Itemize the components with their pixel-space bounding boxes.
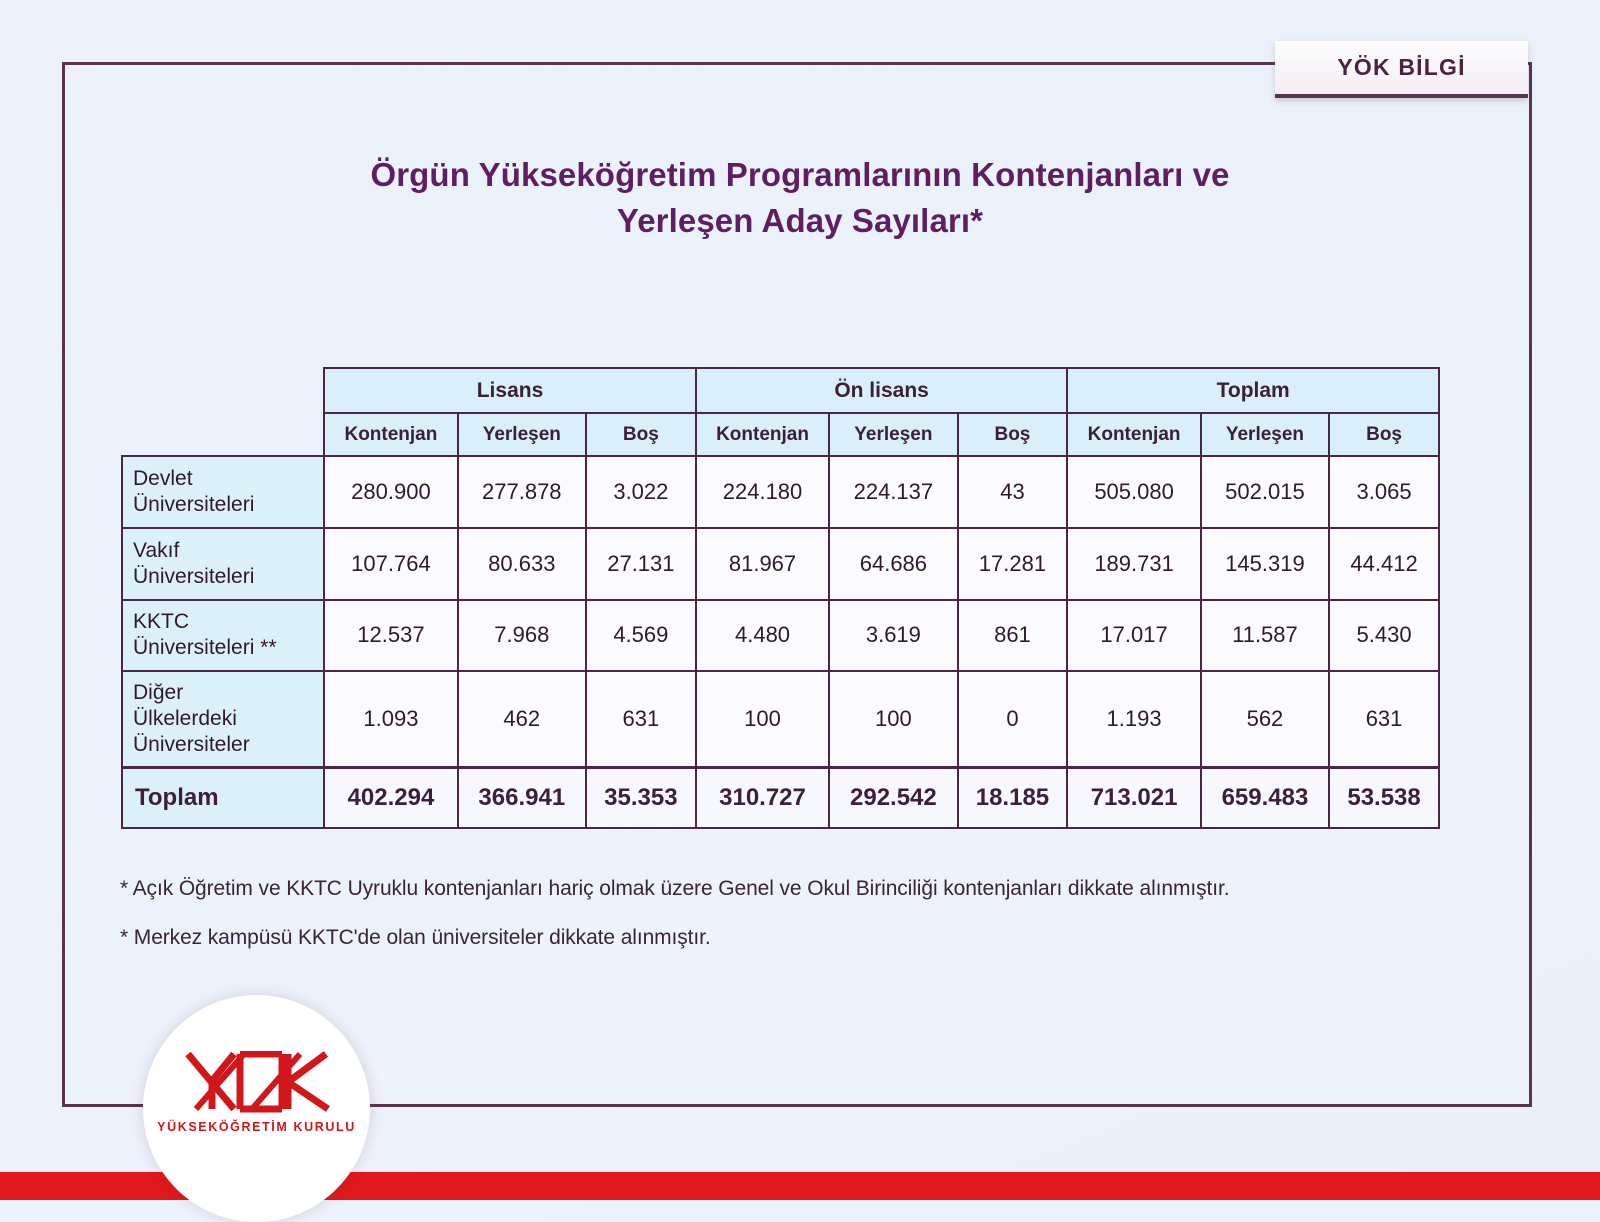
statistics-table-container: Lisans Ön lisans Toplam Kontenjan Yerleş… [121, 367, 1440, 829]
footnote-2: * Merkez kampüsü KKTC'de olan üniversite… [120, 924, 1480, 951]
sub-header-onlisans-kontenjan: Kontenjan [696, 413, 829, 456]
cell-toplam-onlisans-bos: 18.185 [958, 768, 1068, 828]
row-label-line: Ülkelerdeki [133, 706, 313, 732]
sub-header-onlisans-yerlesen: Yerleşen [829, 413, 957, 456]
cell-kktc-lisans-bos: 4.569 [586, 600, 696, 671]
row-label-line: Diğer [133, 680, 313, 706]
cell-toplam-lisans-yerlesen: 366.941 [458, 768, 586, 828]
cell-devlet-onlisans-kontenjan: 224.180 [696, 456, 829, 528]
cell-diger-onlisans-bos: 0 [958, 671, 1068, 768]
cell-diger-lisans-yerlesen: 462 [458, 671, 586, 768]
cell-vakif-lisans-bos: 27.131 [586, 528, 696, 600]
row-label-diger: Diğer Ülkelerdeki Üniversiteler [122, 671, 324, 768]
statistics-table: Lisans Ön lisans Toplam Kontenjan Yerleş… [121, 367, 1440, 829]
table-sub-header-row: Kontenjan Yerleşen Boş Kontenjan Yerleşe… [122, 413, 1439, 456]
cell-diger-toplam-bos: 631 [1329, 671, 1439, 768]
table-row: KKTC Üniversiteleri ** 12.537 7.968 4.56… [122, 600, 1439, 671]
cell-toplam-onlisans-kontenjan: 310.727 [696, 768, 829, 828]
cell-devlet-toplam-yerlesen: 502.015 [1201, 456, 1329, 528]
cell-kktc-toplam-kontenjan: 17.017 [1067, 600, 1200, 671]
sub-header-toplam-kontenjan: Kontenjan [1067, 413, 1200, 456]
yok-bilgi-badge: YÖK BİLGİ [1275, 41, 1528, 98]
sub-header-toplam-bos: Boş [1329, 413, 1439, 456]
row-label-line: Üniversiteler [133, 732, 313, 758]
row-label-line: Vakıf [133, 538, 313, 564]
yok-logo-text: YÜKSEKÖĞRETİM KURULU [157, 1120, 356, 1134]
cell-vakif-toplam-kontenjan: 189.731 [1067, 528, 1200, 600]
table-corner-blank-2 [122, 413, 324, 456]
cell-toplam-lisans-kontenjan: 402.294 [324, 768, 457, 828]
cell-kktc-toplam-bos: 5.430 [1329, 600, 1439, 671]
footnotes: * Açık Öğretim ve KKTC Uyruklu kontenjan… [120, 875, 1480, 974]
cell-kktc-onlisans-kontenjan: 4.480 [696, 600, 829, 671]
cell-devlet-lisans-bos: 3.022 [586, 456, 696, 528]
row-label-line: KKTC [133, 609, 313, 635]
cell-vakif-onlisans-kontenjan: 81.967 [696, 528, 829, 600]
cell-devlet-toplam-kontenjan: 505.080 [1067, 456, 1200, 528]
group-header-lisans: Lisans [324, 368, 696, 413]
cell-vakif-onlisans-yerlesen: 64.686 [829, 528, 957, 600]
cell-devlet-lisans-kontenjan: 280.900 [324, 456, 457, 528]
cell-vakif-toplam-yerlesen: 145.319 [1201, 528, 1329, 600]
page-title: Örgün Yükseköğretim Programlarının Konte… [0, 152, 1600, 243]
table-head: Lisans Ön lisans Toplam Kontenjan Yerleş… [122, 368, 1439, 456]
sub-header-toplam-yerlesen: Yerleşen [1201, 413, 1329, 456]
cell-vakif-lisans-yerlesen: 80.633 [458, 528, 586, 600]
row-label-devlet: Devlet Üniversiteleri [122, 456, 324, 528]
cell-vakif-lisans-kontenjan: 107.764 [324, 528, 457, 600]
sub-header-lisans-bos: Boş [586, 413, 696, 456]
table-row: Vakıf Üniversiteleri 107.764 80.633 27.1… [122, 528, 1439, 600]
row-label-toplam: Toplam [122, 768, 324, 828]
table-row: Devlet Üniversiteleri 280.900 277.878 3.… [122, 456, 1439, 528]
cell-kktc-lisans-yerlesen: 7.968 [458, 600, 586, 671]
cell-toplam-onlisans-yerlesen: 292.542 [829, 768, 957, 828]
cell-toplam-lisans-bos: 35.353 [586, 768, 696, 828]
sub-header-lisans-kontenjan: Kontenjan [324, 413, 457, 456]
table-total-row: Toplam 402.294 366.941 35.353 310.727 29… [122, 768, 1439, 828]
page-title-line-2: Yerleşen Aday Sayıları* [0, 198, 1600, 244]
row-label-vakif: Vakıf Üniversiteleri [122, 528, 324, 600]
sub-header-lisans-yerlesen: Yerleşen [458, 413, 586, 456]
cell-vakif-onlisans-bos: 17.281 [958, 528, 1068, 600]
cell-devlet-onlisans-bos: 43 [958, 456, 1068, 528]
group-header-toplam: Toplam [1067, 368, 1439, 413]
table-body: Devlet Üniversiteleri 280.900 277.878 3.… [122, 456, 1439, 828]
cell-kktc-lisans-kontenjan: 12.537 [324, 600, 457, 671]
cell-kktc-toplam-yerlesen: 11.587 [1201, 600, 1329, 671]
cell-diger-lisans-kontenjan: 1.093 [324, 671, 457, 768]
table-row: Diğer Ülkelerdeki Üniversiteler 1.093 46… [122, 671, 1439, 768]
cell-toplam-toplam-yerlesen: 659.483 [1201, 768, 1329, 828]
cell-diger-toplam-yerlesen: 562 [1201, 671, 1329, 768]
sub-header-onlisans-bos: Boş [958, 413, 1068, 456]
cell-devlet-onlisans-yerlesen: 224.137 [829, 456, 957, 528]
cell-diger-lisans-bos: 631 [586, 671, 696, 768]
row-label-line: Üniversiteleri [133, 492, 313, 518]
row-label-line: Devlet [133, 466, 313, 492]
table-group-header-row: Lisans Ön lisans Toplam [122, 368, 1439, 413]
footnote-1: * Açık Öğretim ve KKTC Uyruklu kontenjan… [120, 875, 1480, 902]
cell-diger-toplam-kontenjan: 1.193 [1067, 671, 1200, 768]
yok-logo: YÜKSEKÖĞRETİM KURULU [143, 995, 370, 1222]
row-label-line: Üniversiteleri [133, 564, 313, 590]
page-title-line-1: Örgün Yükseköğretim Programlarının Konte… [0, 152, 1600, 198]
cell-toplam-toplam-kontenjan: 713.021 [1067, 768, 1200, 828]
yok-logo-icon [182, 1051, 332, 1113]
group-header-onlisans: Ön lisans [696, 368, 1068, 413]
row-label-line: Üniversiteleri ** [133, 635, 313, 661]
cell-diger-onlisans-kontenjan: 100 [696, 671, 829, 768]
cell-devlet-toplam-bos: 3.065 [1329, 456, 1439, 528]
yok-bilgi-badge-label: YÖK BİLGİ [1337, 54, 1465, 81]
table-corner-blank [122, 368, 324, 413]
cell-toplam-toplam-bos: 53.538 [1329, 768, 1439, 828]
cell-diger-onlisans-yerlesen: 100 [829, 671, 957, 768]
row-label-kktc: KKTC Üniversiteleri ** [122, 600, 324, 671]
cell-kktc-onlisans-yerlesen: 3.619 [829, 600, 957, 671]
cell-kktc-onlisans-bos: 861 [958, 600, 1068, 671]
cell-vakif-toplam-bos: 44.412 [1329, 528, 1439, 600]
cell-devlet-lisans-yerlesen: 277.878 [458, 456, 586, 528]
